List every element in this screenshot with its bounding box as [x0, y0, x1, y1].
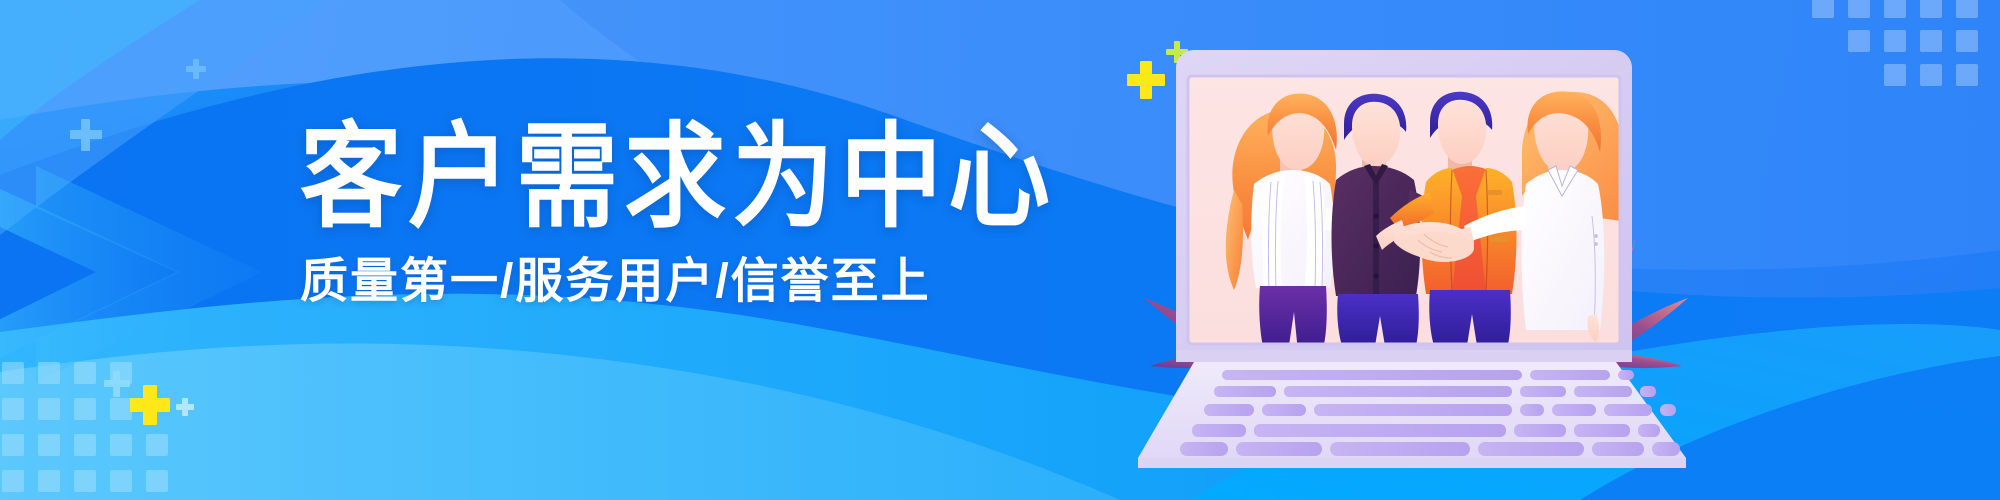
cyan-plus-icon-bottom-small [176, 398, 194, 416]
cyan-plus-icon-upper-small [186, 59, 206, 79]
screen-content [1188, 76, 1674, 352]
cyan-plus-icon-upper [70, 119, 102, 151]
dot-grid-top-right [1812, 0, 1978, 86]
laptop-hinge [1176, 350, 1632, 362]
decoration-layer [0, 0, 2000, 500]
yellow-plus-icon-bottom [130, 385, 170, 425]
promo-banner: 客户需求为中心 质量第一/服务用户/信誉至上 [0, 0, 2000, 500]
dot-grid-bottom-left [2, 362, 168, 492]
laptop-keyboard [1138, 362, 1686, 468]
laptop-team-illustration [1130, 40, 1690, 480]
sparkle-plus-icons [70, 41, 1188, 425]
